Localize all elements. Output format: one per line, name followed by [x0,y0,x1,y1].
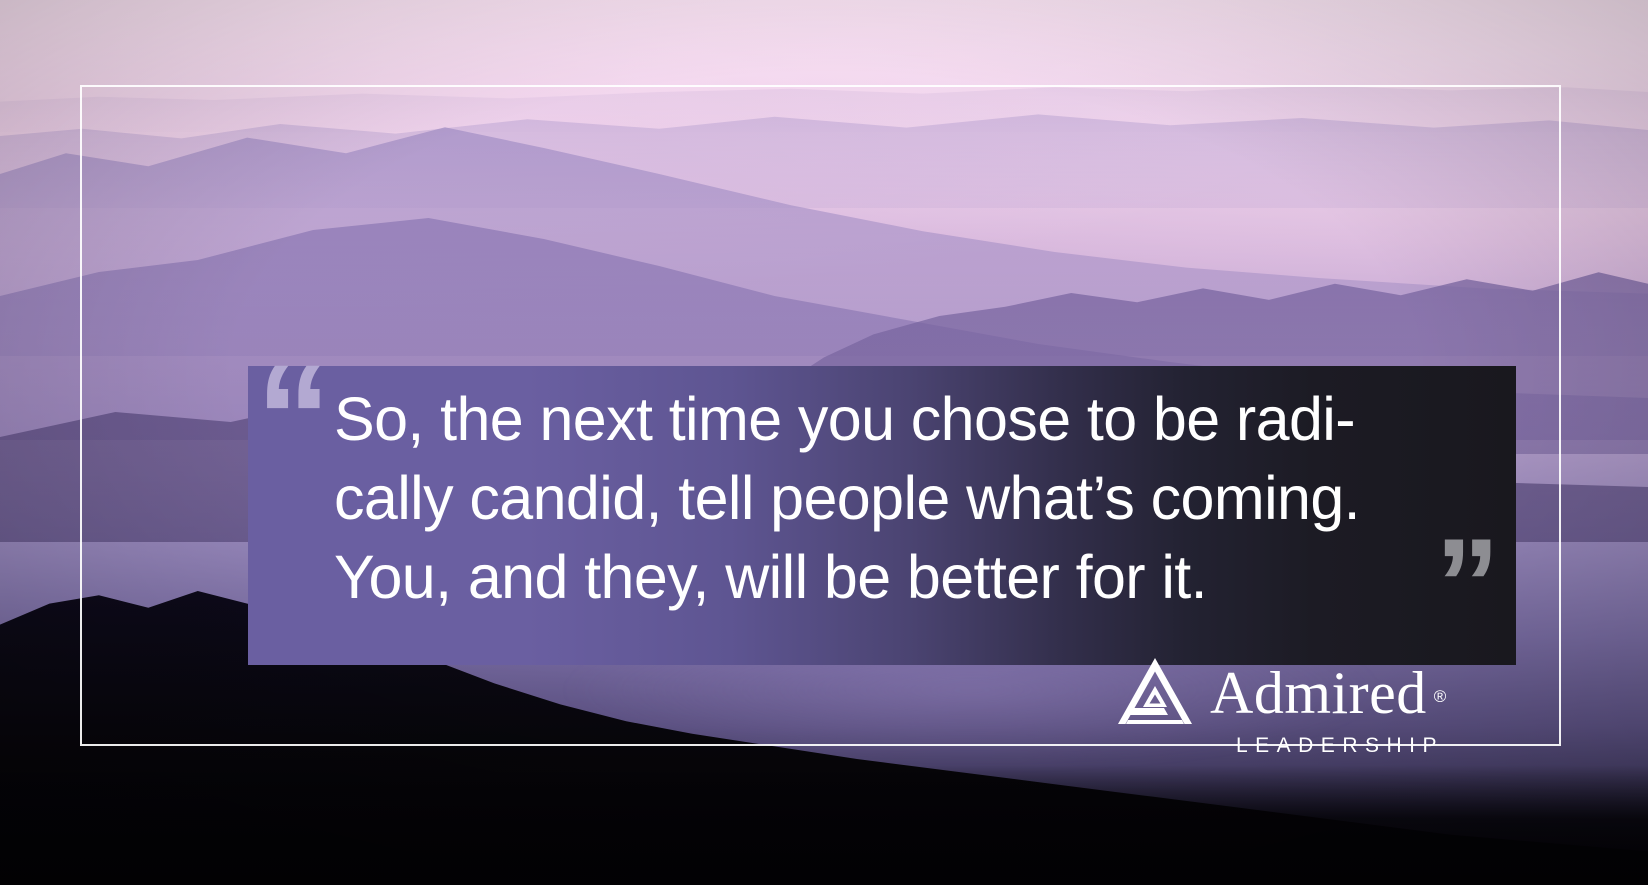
admired-triangle-mark-icon [1118,658,1192,728]
registered-trademark-icon: ® [1434,666,1447,728]
logo-tagline: LEADERSHIP [1118,734,1448,758]
logo-wordmark: Admired ® [1210,662,1427,724]
quote-text: So, the next time you chose to be radi- … [334,380,1514,617]
closing-quotation-mark-icon: ” [1435,519,1498,649]
logo-primary-row: Admired ® [1118,658,1448,728]
admired-leadership-logo: Admired ® LEADERSHIP [1118,658,1448,758]
opening-quotation-mark-icon: “ [256,342,329,492]
logo-wordmark-text: Admired [1210,660,1427,726]
quote-card: “ So, the next time you chose to be radi… [248,366,1516,665]
quote-graphic: “ So, the next time you chose to be radi… [0,0,1648,885]
